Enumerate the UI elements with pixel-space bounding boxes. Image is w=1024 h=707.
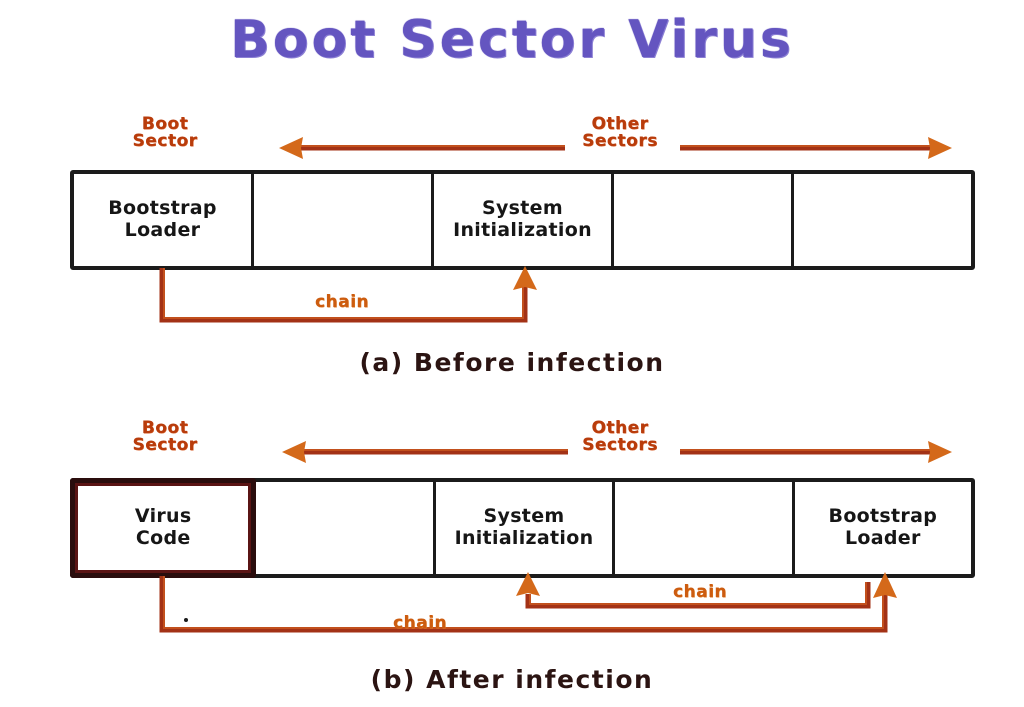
sector-cell-a-3-line1: System [453, 198, 592, 220]
sector-cell-b-1-virus[interactable]: Virus Code [70, 478, 256, 578]
sector-cell-b-2[interactable] [256, 482, 435, 574]
other-sectors-left-arrow-a [275, 134, 565, 162]
sector-cell-a-1-line2: Loader [108, 220, 217, 242]
sector-cell-b-5[interactable]: Bootstrap Loader [795, 482, 971, 574]
sector-cell-b-3[interactable]: System Initialization [436, 482, 615, 574]
sector-cell-a-1[interactable]: Bootstrap Loader [74, 174, 254, 266]
sector-cell-b-4[interactable] [615, 482, 794, 574]
sector-cell-b-1-line2: Code [135, 528, 192, 550]
sector-cell-a-4[interactable] [614, 174, 794, 266]
caption-before-infection: (a) Before infection [0, 348, 1024, 377]
sector-cell-a-3-line2: Initialization [453, 220, 592, 242]
chain-label-b-lower: chain [370, 613, 470, 633]
other-sectors-left-arrow-b [278, 438, 568, 466]
disk-strip-before: Bootstrap Loader System Initialization [70, 170, 975, 270]
disk-strip-after: Virus Code System Initialization Boo [70, 478, 975, 578]
sector-cell-a-3[interactable]: System Initialization [434, 174, 614, 266]
other-sectors-label-b: Other Sectors [565, 420, 675, 454]
sector-cell-a-1-line1: Bootstrap [108, 198, 217, 220]
boot-sector-label-a: Boot Sector [110, 116, 220, 150]
boot-sector-label-b-line2: Sector [110, 437, 220, 454]
sector-cell-b-1-line1: Virus [135, 506, 192, 528]
sector-cell-a-5[interactable] [794, 174, 971, 266]
other-sectors-label-b-line2: Sectors [565, 437, 675, 454]
other-sectors-label-a-line2: Sectors [565, 133, 675, 150]
caption-after-infection: (b) After infection [0, 665, 1024, 694]
sector-cell-b-3-line2: Initialization [455, 528, 594, 550]
page-title: Boot Sector Virus [0, 10, 1024, 70]
boot-sector-label-b: Boot Sector [110, 420, 220, 454]
boot-sector-label-a-line2: Sector [110, 133, 220, 150]
sector-cell-b-3-line1: System [455, 506, 594, 528]
sector-cell-b-5-line1: Bootstrap [829, 506, 938, 528]
diagram-canvas: Boot Sector Virus Boot Sector Other Sect… [0, 0, 1024, 707]
other-sectors-label-a: Other Sectors [565, 116, 675, 150]
sector-cell-a-2[interactable] [254, 174, 434, 266]
chain-label-a: chain [292, 292, 392, 312]
chain-arrow-b-lower [150, 572, 920, 644]
other-sectors-right-arrow-a [680, 134, 955, 162]
sector-cell-b-5-line2: Loader [829, 528, 938, 550]
other-sectors-right-arrow-b [680, 438, 955, 466]
